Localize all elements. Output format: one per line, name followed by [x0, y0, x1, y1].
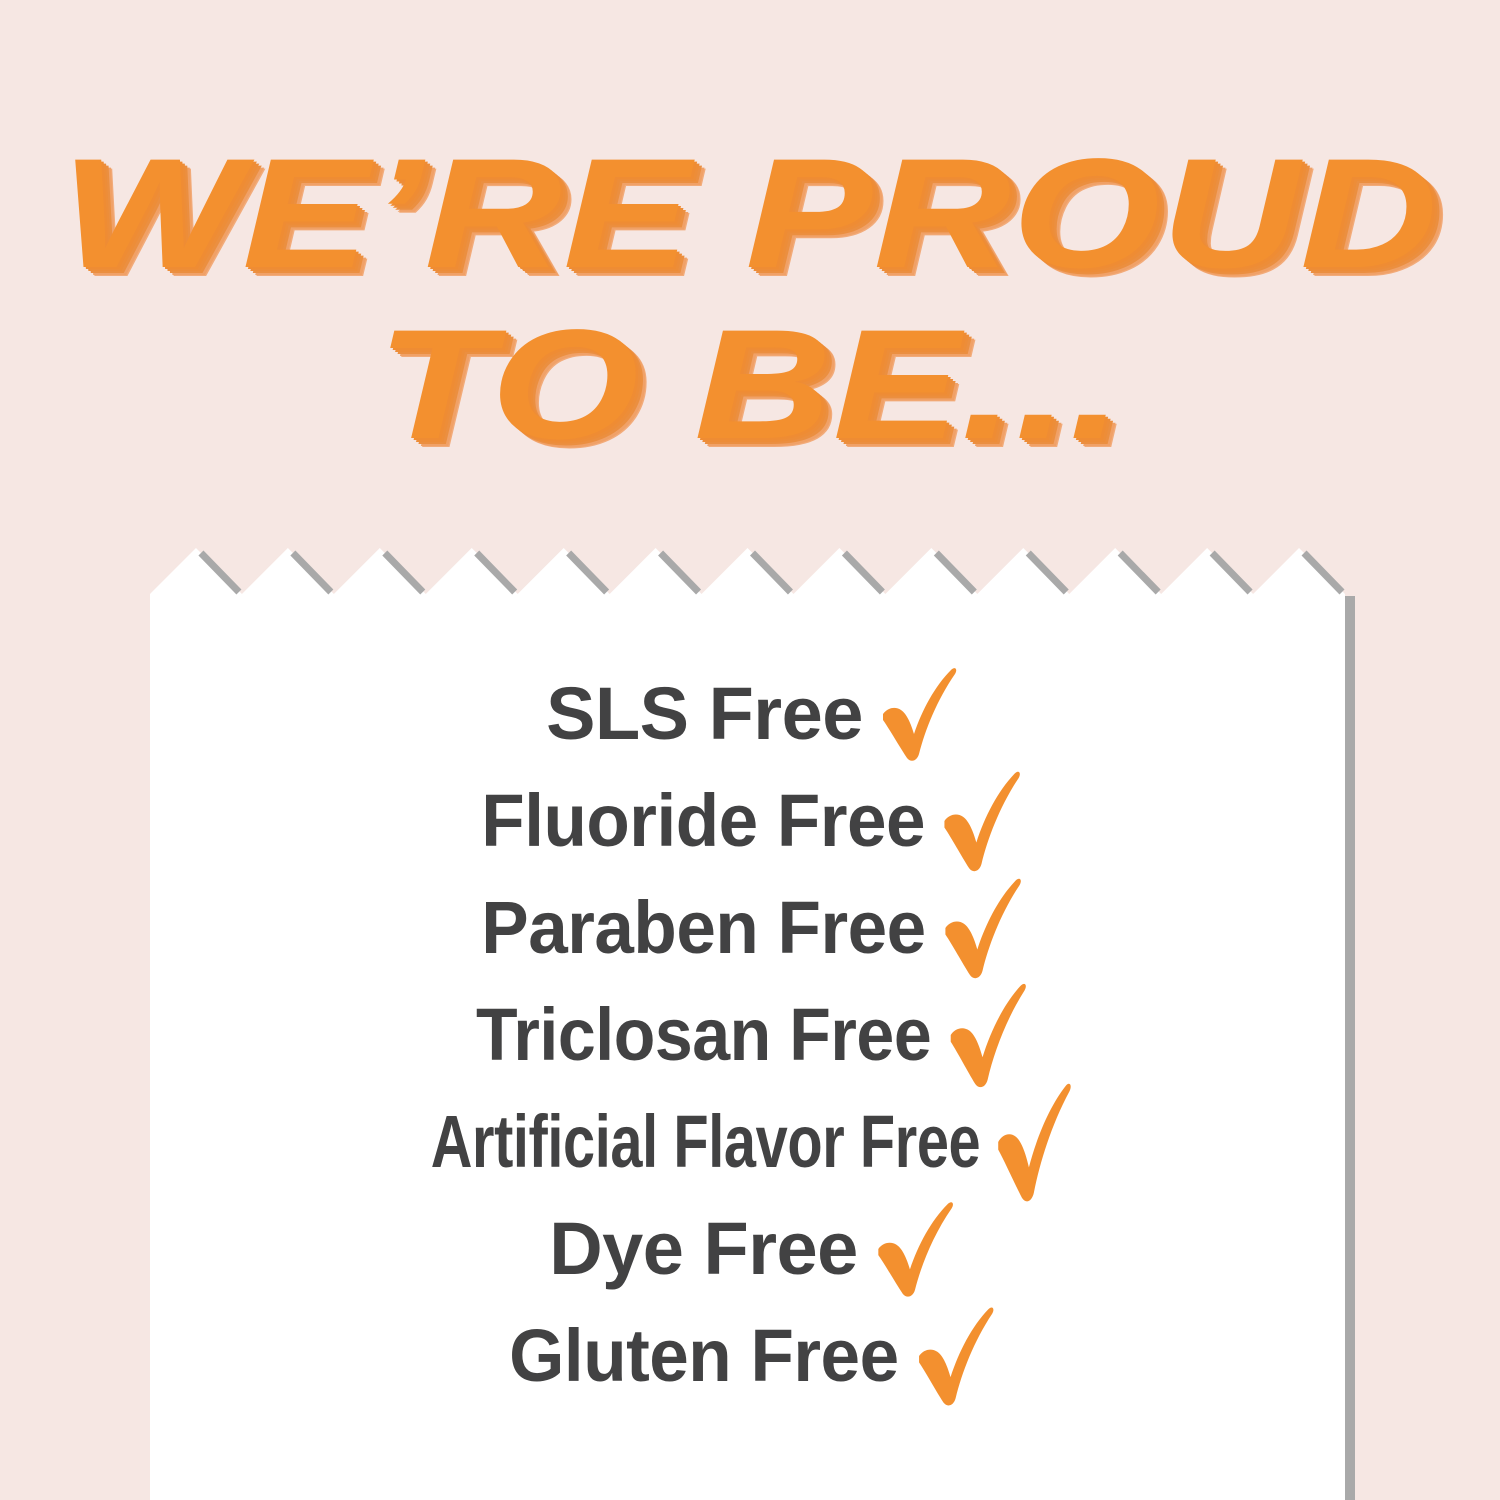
headline-line-1: WE’RE PROUD: [0, 138, 1500, 291]
benefit-label: Gluten Free: [509, 1319, 898, 1393]
benefit-label: SLS Free: [546, 677, 863, 751]
benefit-label: Fluoride Free: [482, 784, 926, 858]
list-item: SLS Free: [150, 660, 1355, 768]
headline-block: WE’RE PROUD TO BE...: [0, 138, 1500, 462]
list-item: Triclosan Free: [150, 981, 1355, 1089]
poster: WE’RE PROUD TO BE... SLS Free: [0, 0, 1500, 1500]
benefit-label: Dye Free: [549, 1212, 858, 1286]
list-item: Paraben Free: [150, 874, 1355, 982]
benefit-label: Artificial Flavor Free: [431, 1105, 981, 1179]
checkmark-icon: [939, 872, 1023, 984]
list-item: Artificial Flavor Free: [150, 1088, 1355, 1196]
list-item: Dye Free: [150, 1195, 1355, 1303]
benefit-label: Paraben Free: [481, 891, 925, 965]
benefit-label: Triclosan Free: [476, 998, 931, 1072]
headline-line-2: TO BE...: [0, 309, 1500, 462]
checkmark-icon: [912, 1301, 996, 1411]
list-item: Gluten Free: [150, 1302, 1355, 1410]
list-item: Fluoride Free: [150, 767, 1355, 875]
checkmark-icon: [872, 1196, 956, 1302]
benefits-list: SLS Free Fluoride Free Parab: [150, 660, 1355, 1460]
checkmark-icon: [877, 662, 959, 766]
checkmark-icon: [991, 1076, 1074, 1208]
checkmark-icon: [939, 765, 1023, 877]
